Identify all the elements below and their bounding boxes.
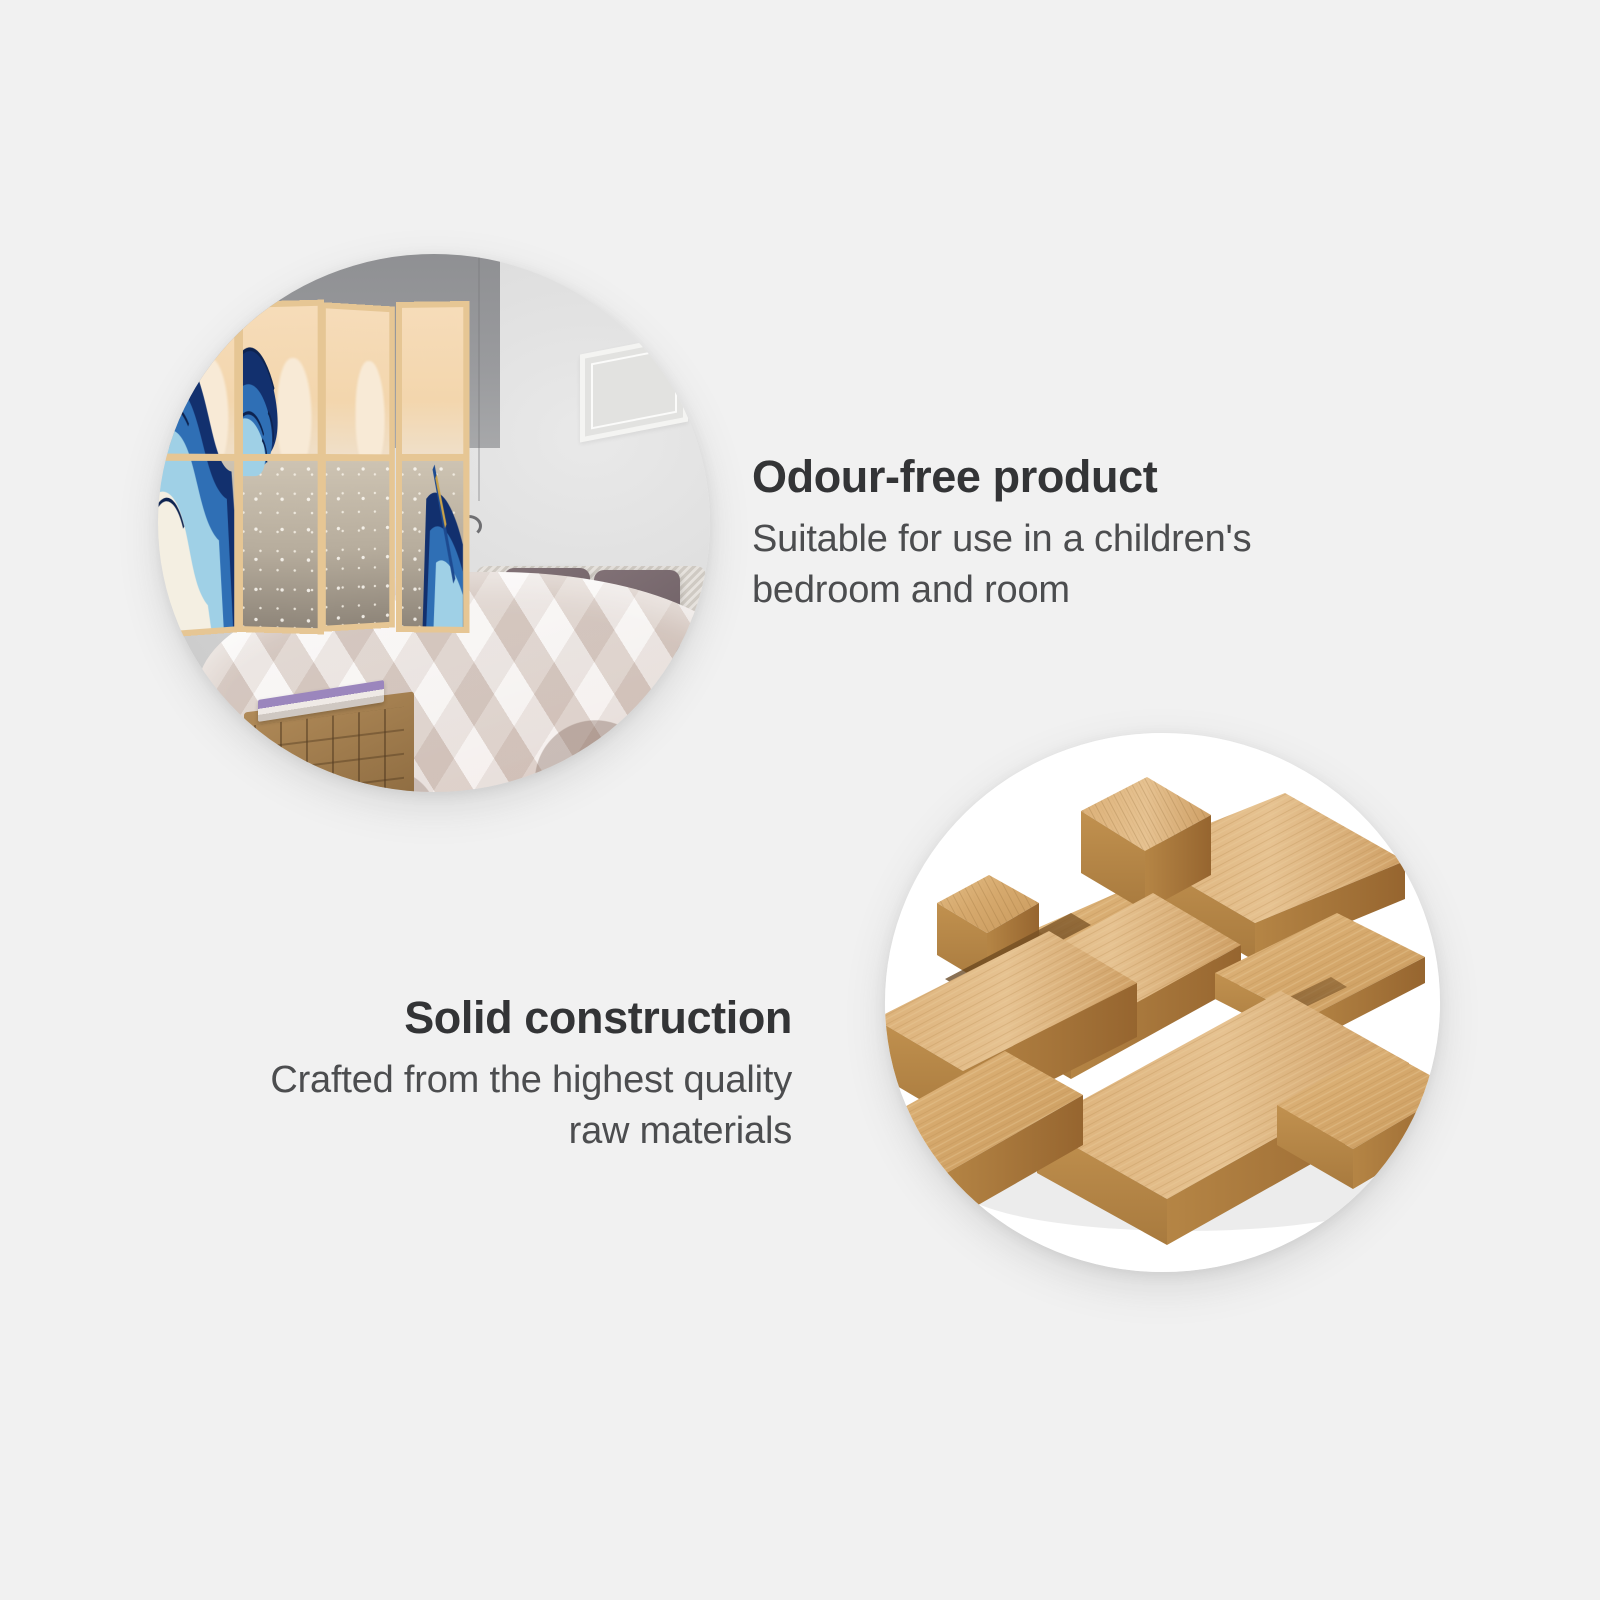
feature-description-solid-construction: Crafted from the highest quality raw mat… <box>262 1055 792 1156</box>
feature-text-solid-construction: Solid construction Crafted from the high… <box>262 993 792 1156</box>
screen-panel-3 <box>320 302 395 632</box>
feature-image-solid-construction <box>885 733 1440 1272</box>
feature-image-odour-free <box>158 254 710 792</box>
bedroom-scene <box>158 254 710 792</box>
feature-text-odour-free: Odour-free product Suitable for use in a… <box>752 452 1282 615</box>
folding-screen <box>158 302 478 632</box>
great-wave-print-2 <box>243 306 317 628</box>
feature-title-solid-construction: Solid construction <box>262 993 792 1043</box>
feature-title-odour-free: Odour-free product <box>752 452 1282 502</box>
feature-description-odour-free: Suitable for use in a children's bedroom… <box>752 514 1282 615</box>
great-wave-print-3 <box>325 308 389 625</box>
great-wave-print-1 <box>158 302 235 633</box>
wall-corner-line <box>478 254 480 501</box>
great-wave-print-4 <box>401 307 462 627</box>
infographic-canvas: Odour-free product Suitable for use in a… <box>0 0 1600 1600</box>
screen-panel-4 <box>396 301 469 633</box>
stacked-timber-illustration <box>885 733 1440 1272</box>
screen-panel-2 <box>237 300 324 635</box>
wood-beams-scene <box>885 733 1440 1272</box>
screen-panel-1 <box>158 295 240 639</box>
